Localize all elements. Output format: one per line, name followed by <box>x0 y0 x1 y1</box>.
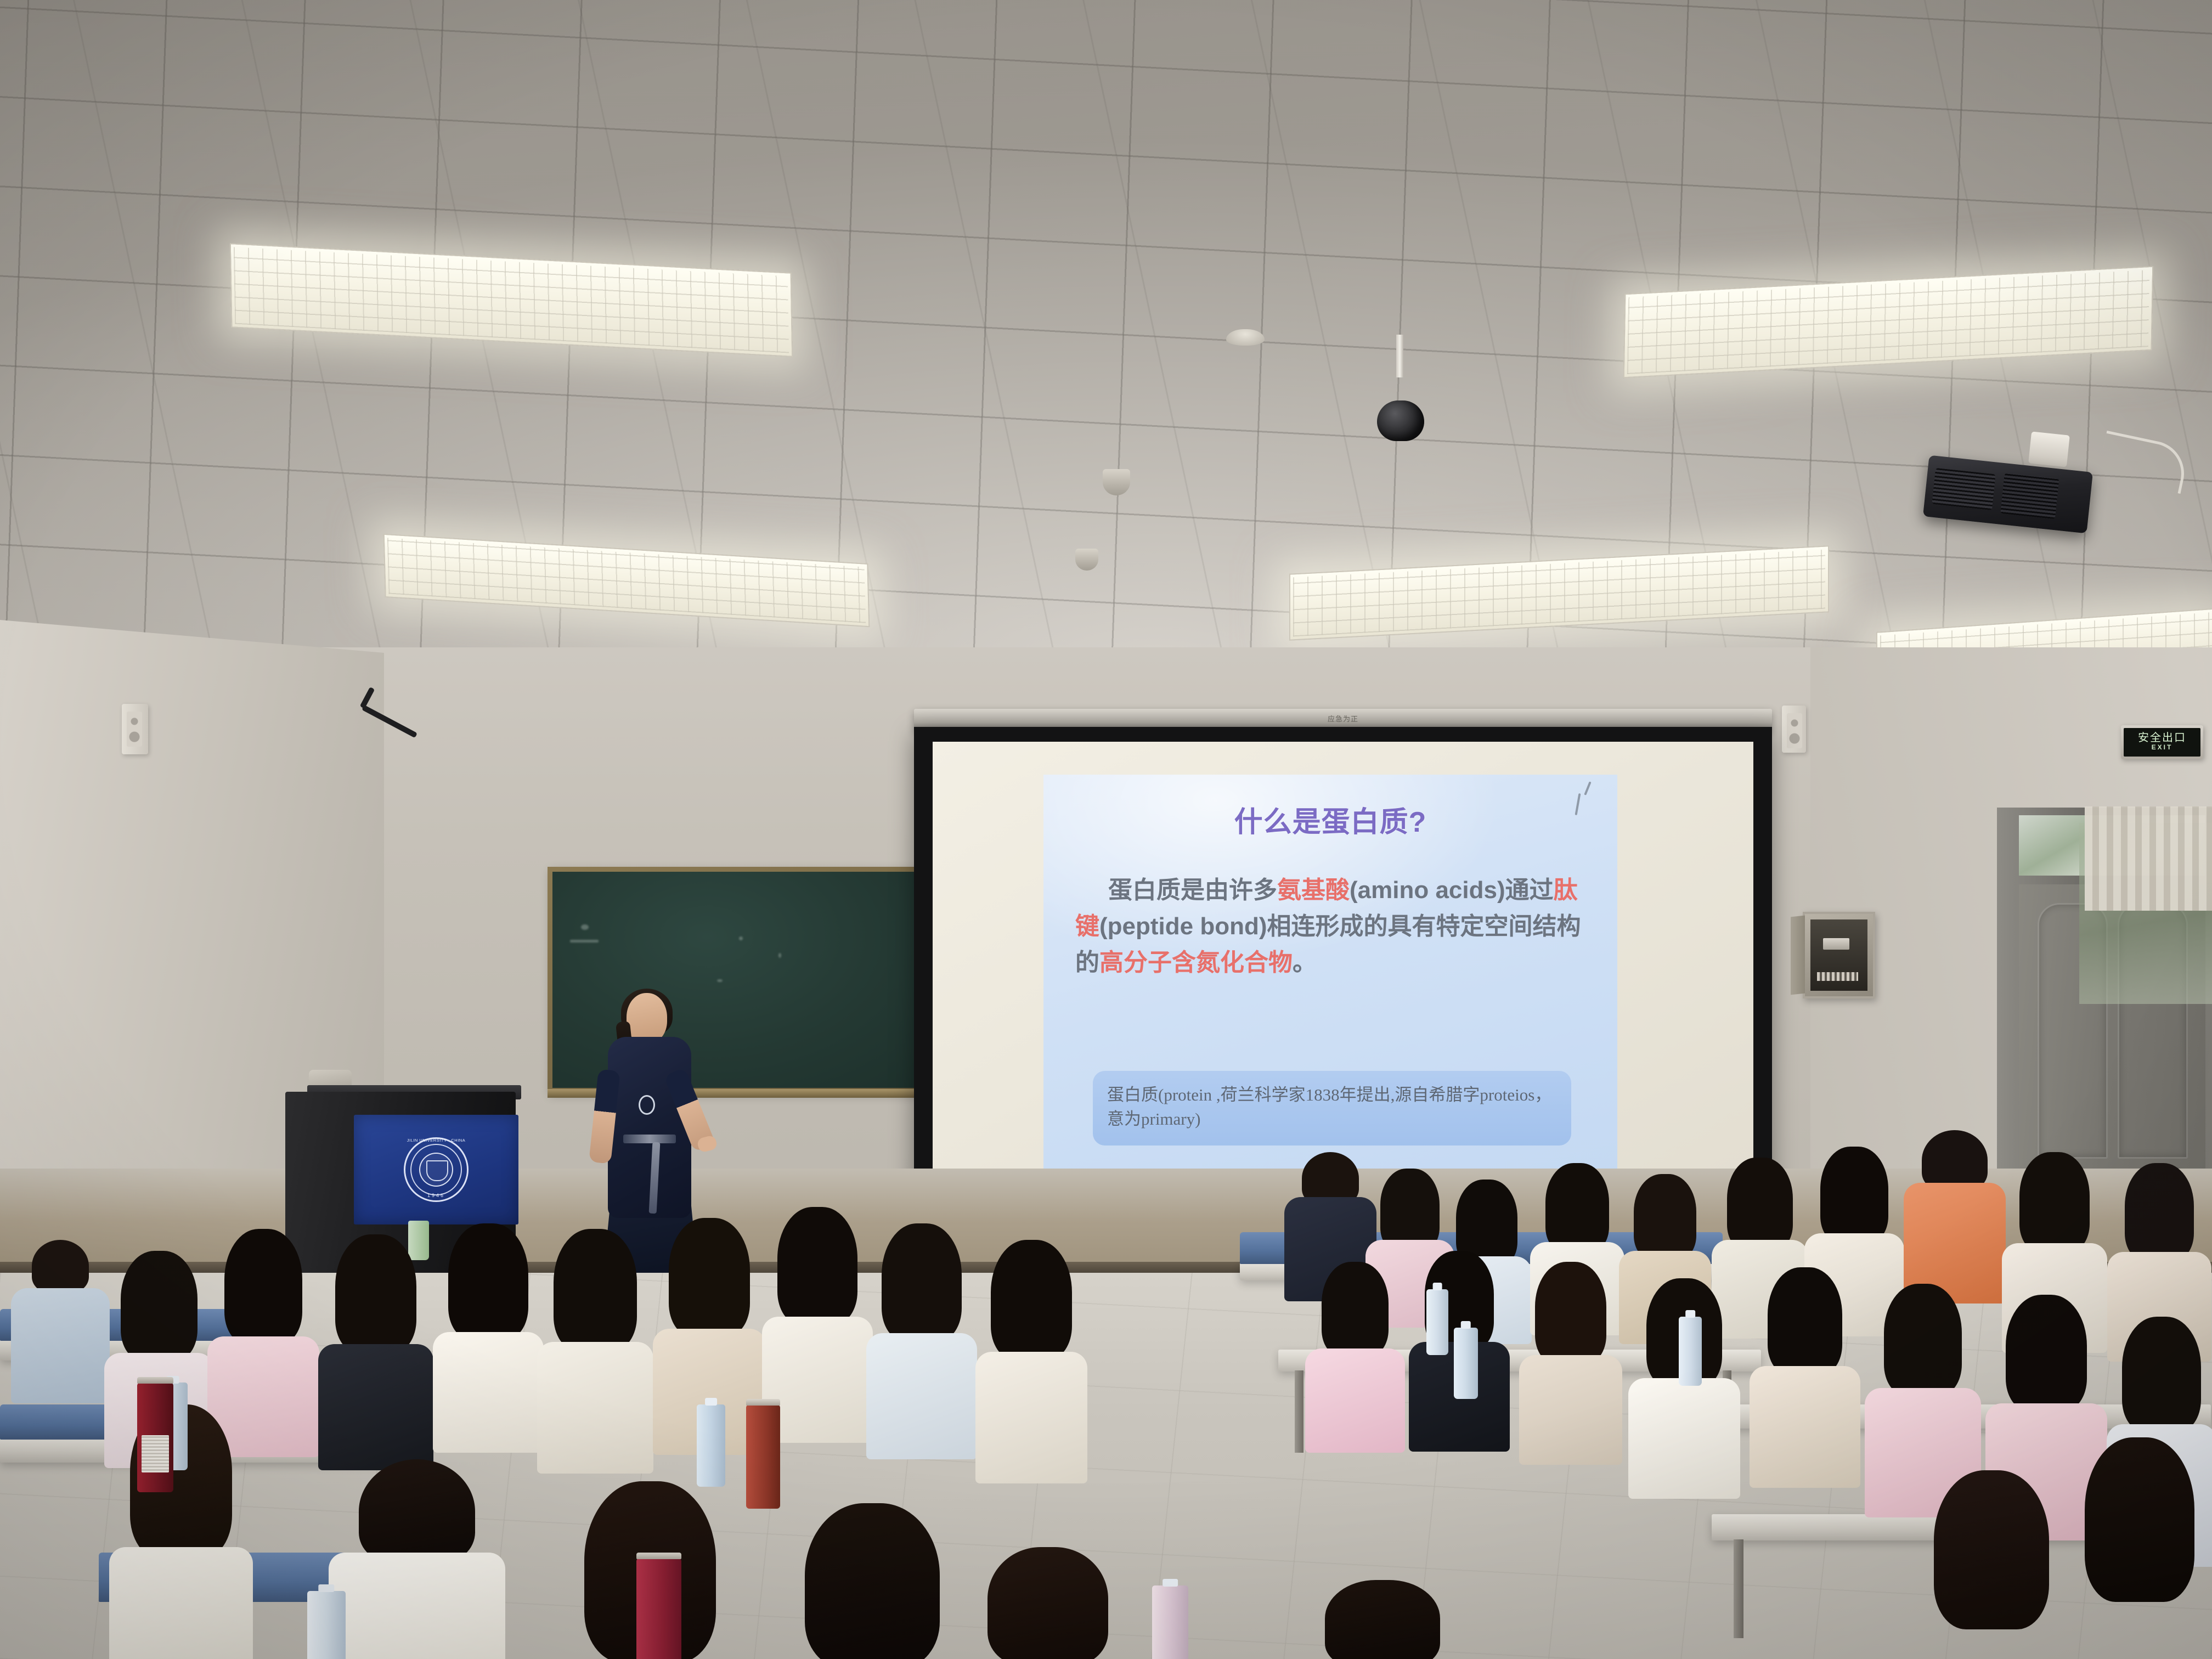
slide-title: 什么是蛋白质? <box>1043 799 1617 840</box>
window-curtain <box>2085 806 2212 911</box>
student-hair <box>1884 1284 1962 1396</box>
student <box>2107 1163 2212 1328</box>
student-torso <box>109 1547 253 1659</box>
student-torso <box>1305 1348 1405 1453</box>
projector-mount <box>2028 432 2070 467</box>
student <box>867 1223 977 1410</box>
student-torso <box>11 1288 110 1403</box>
projected-slide: 什么是蛋白质? 蛋白质是由许多氨基酸(amino acids)通过肽键(pept… <box>1043 775 1617 1208</box>
student <box>977 1240 1086 1432</box>
student <box>1306 1580 1459 1659</box>
lecturer-head <box>627 993 667 1043</box>
student <box>433 1223 543 1404</box>
exit-sign: 安全出口 EXIT <box>2121 725 2203 759</box>
student <box>208 1229 318 1410</box>
wall-speaker-icon <box>122 704 148 754</box>
student <box>763 1207 872 1393</box>
thermos-bottle <box>746 1404 780 1509</box>
student <box>2063 1437 2212 1657</box>
student-hair <box>448 1223 528 1340</box>
student <box>318 1234 433 1421</box>
student-hair <box>2019 1152 2090 1252</box>
student-hair <box>2125 1163 2194 1261</box>
slide-body-seg1: 蛋白质是由许多 <box>1108 877 1277 904</box>
smoke-detector-icon <box>1226 329 1265 346</box>
water-bottle <box>1454 1328 1478 1399</box>
student-hair <box>359 1459 475 1564</box>
wall-speaker-icon <box>1782 706 1806 753</box>
slide-body-seg4: 。 <box>1293 949 1317 976</box>
sprinkler-icon <box>1103 469 1130 495</box>
student-hair <box>1535 1262 1606 1364</box>
thermos-bottle <box>636 1558 681 1659</box>
student-torso <box>1750 1366 1860 1488</box>
student <box>538 1229 653 1421</box>
student-torso <box>537 1342 653 1474</box>
student <box>653 1218 765 1404</box>
student-hair <box>224 1229 302 1344</box>
student <box>1909 1470 2074 1659</box>
seal-shield <box>419 1153 453 1187</box>
student-hair <box>2006 1295 2087 1411</box>
slide-highlight-macromolecule: 高分子含氮化合物 <box>1099 949 1293 976</box>
housing-label: 应急为正 <box>1328 713 1358 724</box>
student <box>329 1459 505 1659</box>
student-hair <box>121 1251 198 1361</box>
student-hair <box>1634 1174 1696 1260</box>
university-seal-icon: JILIN UNIVERSITY · CHINA 1946 <box>404 1137 469 1202</box>
student <box>966 1547 1130 1659</box>
thermos-bottle <box>137 1383 173 1492</box>
student-hair <box>805 1503 940 1659</box>
student-torso <box>329 1553 505 1659</box>
camera-mount-stem <box>1396 335 1403 377</box>
student-hair <box>669 1218 750 1336</box>
student <box>2002 1152 2107 1317</box>
student-torso <box>866 1333 977 1459</box>
lecturer-belt <box>623 1135 676 1143</box>
student-hair <box>1380 1169 1440 1251</box>
student <box>1750 1267 1860 1448</box>
seal-year: 1946 <box>427 1193 445 1198</box>
student-hair <box>1325 1580 1440 1659</box>
dome-camera-icon <box>1377 400 1424 441</box>
lecture-hall-photo: 安全出口 EXIT 应急为正 什么是蛋白质? 蛋白 <box>0 0 2212 1659</box>
podium-front-panel: JILIN UNIVERSITY · CHINA 1946 <box>354 1115 518 1224</box>
desk-leg <box>1734 1539 1743 1638</box>
student-hair <box>2085 1437 2194 1602</box>
desk-leg <box>1295 1370 1304 1453</box>
student-hair <box>1545 1163 1609 1252</box>
student <box>1520 1262 1621 1426</box>
student-torso <box>975 1352 1087 1483</box>
student-hair <box>988 1547 1108 1659</box>
student-torso <box>318 1344 433 1470</box>
exit-sign-chinese: 安全出口 <box>2138 732 2186 743</box>
student-hair <box>882 1223 962 1341</box>
lecturer-brooch <box>639 1095 655 1115</box>
slide-highlight-amino-acid: 氨基酸 <box>1277 877 1350 904</box>
student-hair <box>1322 1262 1389 1356</box>
water-bottle <box>1679 1317 1702 1386</box>
student <box>779 1503 966 1659</box>
student-hair <box>32 1240 89 1293</box>
student-hair <box>991 1240 1072 1359</box>
student-torso <box>1628 1378 1740 1499</box>
slide-body-seg2: (amino acids)通过 <box>1350 877 1554 904</box>
student-torso <box>433 1332 544 1453</box>
exit-sign-english: EXIT <box>2152 743 2173 752</box>
student-hair <box>1922 1130 1988 1190</box>
panel-door[interactable] <box>1791 916 1805 995</box>
student-hair <box>2122 1317 2201 1432</box>
electrical-panel[interactable] <box>1803 912 1875 998</box>
student <box>1904 1130 2005 1289</box>
student-hair <box>1768 1267 1842 1375</box>
seal-text: JILIN UNIVERSITY · CHINA <box>407 1138 465 1143</box>
student-hair <box>335 1234 416 1353</box>
water-bottle <box>307 1591 346 1659</box>
student <box>11 1240 110 1393</box>
student-hair <box>1934 1470 2049 1629</box>
student <box>1865 1284 1980 1476</box>
student-hair <box>554 1229 637 1351</box>
slide-callout-box: 蛋白质(protein ,荷兰科学家1838年提出,源自希腊字proteios，… <box>1093 1071 1571 1145</box>
slide-body-text: 蛋白质是由许多氨基酸(amino acids)通过肽键(peptide bond… <box>1075 872 1591 981</box>
water-bottle <box>1426 1289 1448 1355</box>
water-bottle <box>697 1404 725 1487</box>
thermos-label <box>142 1435 169 1472</box>
panel-breakers <box>1810 919 1867 991</box>
student-hair <box>1727 1158 1793 1251</box>
student-torso <box>1519 1355 1622 1465</box>
student-hair <box>1820 1147 1888 1243</box>
student <box>1306 1262 1404 1415</box>
water-bottle <box>1152 1585 1188 1659</box>
sprinkler-icon <box>1075 549 1098 571</box>
student-hair <box>777 1207 857 1324</box>
